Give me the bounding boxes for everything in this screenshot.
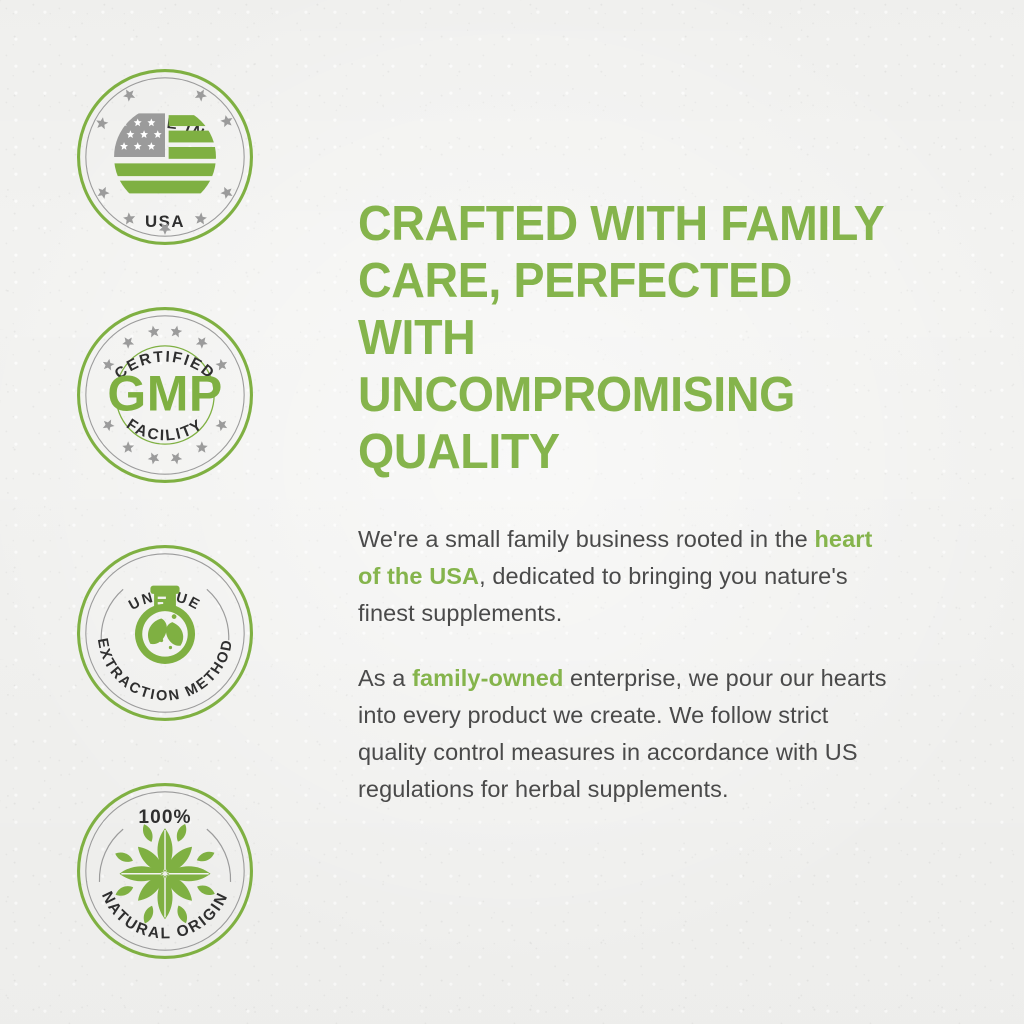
gmp-seal-icon: GMP (107, 365, 222, 421)
badge-unique-extraction-method: UNIQUE EXTRACTION METHOD (74, 542, 256, 724)
badge-top-text: 100% (138, 807, 191, 828)
decorative-arc-right (207, 589, 229, 640)
leaf-rosette-icon (114, 822, 217, 925)
paragraph-2-part-1: As a (358, 665, 412, 691)
paragraph-2: As a family-owned enterprise, we pour ou… (358, 660, 898, 808)
body-copy: We're a small family business rooted in … (358, 521, 914, 808)
badge-made-in-usa: MADE IN USA (74, 66, 256, 248)
content-column: CRAFTED WITH FAMILY CARE, PERFECTED WITH… (330, 0, 1024, 1024)
trust-badge-column: MADE IN USA (0, 0, 330, 1024)
paragraph-1-part-1: We're a small family business rooted in … (358, 526, 814, 552)
promo-banner: MADE IN USA (0, 0, 1024, 1024)
decorative-arc-left (101, 589, 123, 640)
page-title: CRAFTED WITH FAMILY CARE, PERFECTED WITH… (358, 196, 886, 481)
paragraph-1: We're a small family business rooted in … (358, 521, 898, 632)
badge-natural-origin: 100% NATURAL ORIGIN (74, 780, 256, 962)
usa-flag-circle-icon (109, 113, 222, 193)
badge-gmp-certified-facility: CERTIFIED FACILITY GMP (74, 304, 256, 486)
highlight-family-owned: family-owned (412, 665, 563, 691)
